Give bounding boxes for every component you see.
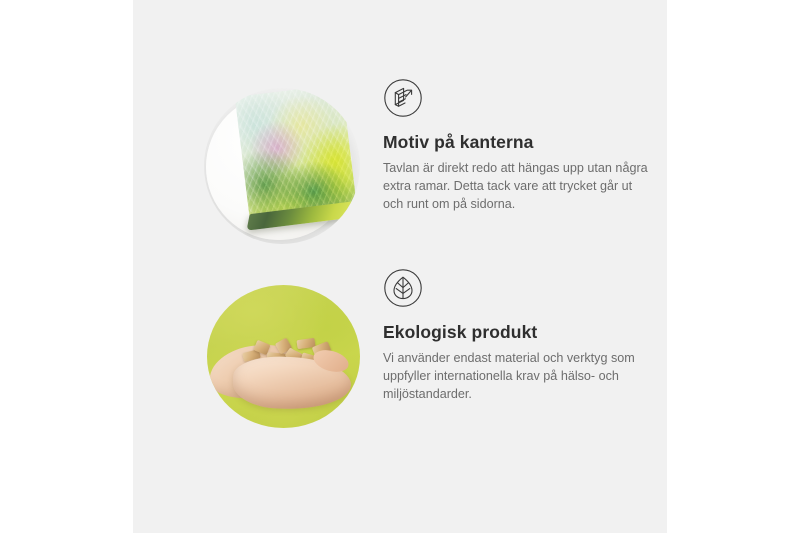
- feature-title: Ekologisk produkt: [383, 322, 658, 343]
- feature-description: Tavlan är direkt redo att hängas upp uta…: [383, 160, 651, 214]
- canvas-print-on-white-disc-photo: [204, 88, 360, 244]
- hands: [209, 337, 359, 411]
- product-feature-panel: Motiv på kanterna Tavlan är direkt redo …: [0, 0, 800, 533]
- canvas-print: [235, 88, 358, 222]
- hands-holding-wood-chips-photo: [207, 285, 360, 428]
- feature-ekologisk-produkt: Ekologisk produkt Vi använder endast mat…: [133, 268, 667, 448]
- feature-description: Vi använder endast material och verktyg …: [383, 350, 651, 404]
- canvas-print-face: [235, 88, 358, 222]
- feature-copy: Motiv på kanterna Tavlan är direkt redo …: [383, 78, 658, 214]
- leaf-icon: [383, 268, 423, 308]
- content-panel: Motiv på kanterna Tavlan är direkt redo …: [133, 0, 667, 533]
- feature-title: Motiv på kanterna: [383, 132, 658, 153]
- feature-copy: Ekologisk produkt Vi använder endast mat…: [383, 268, 658, 404]
- canvas-wrapped-edge-icon: [383, 78, 423, 118]
- feature-motiv-pa-kanterna: Motiv på kanterna Tavlan är direkt redo …: [133, 78, 667, 258]
